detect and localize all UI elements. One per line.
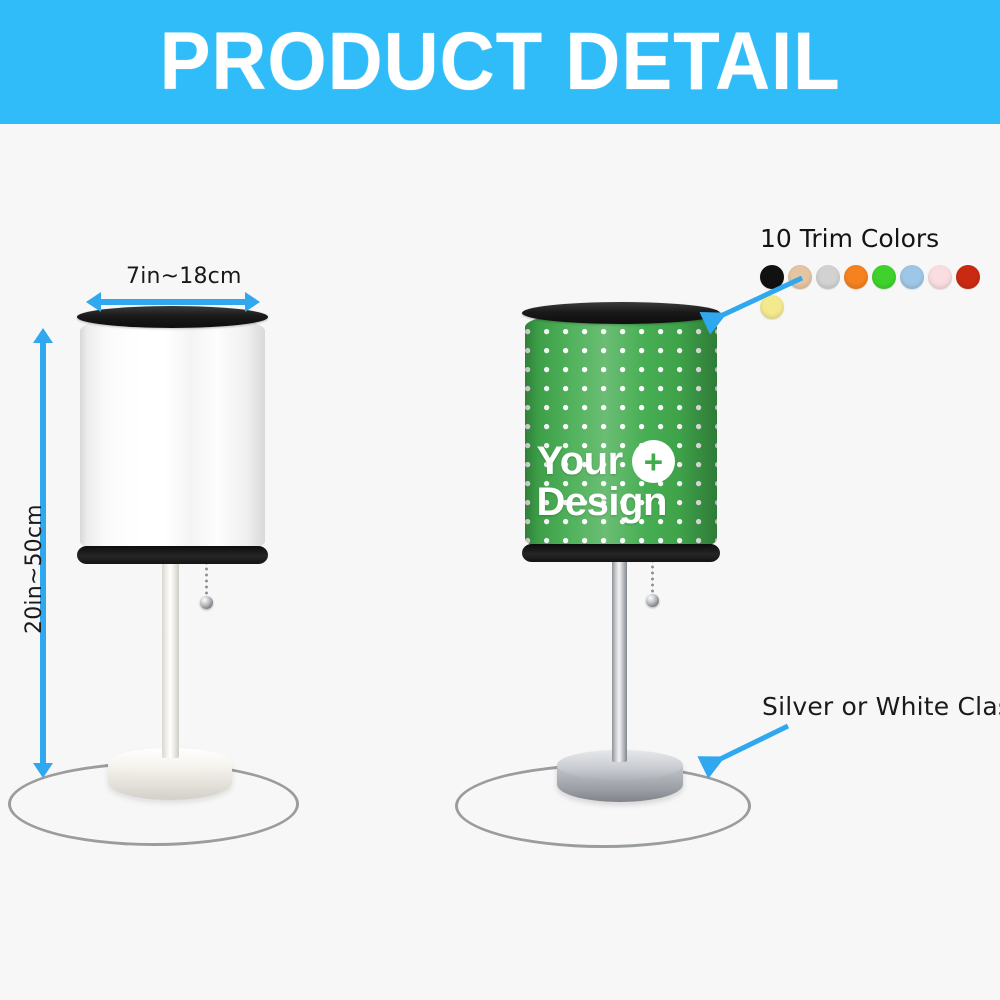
design-lamp-trim-top xyxy=(522,302,720,324)
white-lamp-pull-knob[interactable] xyxy=(200,596,213,609)
white-lamp-pole xyxy=(162,552,179,758)
design-lamp-pole xyxy=(612,550,627,762)
design-lamp-shade: Your + Design xyxy=(525,310,717,554)
trim-swatch-orange[interactable] xyxy=(844,265,868,289)
design-lamp-trim-bottom xyxy=(522,544,720,563)
shade-artwork: Your + Design xyxy=(537,440,706,522)
design-lamp-pull-knob[interactable] xyxy=(646,594,659,607)
width-dimension-arrow xyxy=(100,299,246,305)
trim-swatch-dark-red[interactable] xyxy=(956,265,980,289)
product-illustration-stage: Your + Design 7in~18cm 20in~50cm 10 Trim… xyxy=(0,124,1000,1000)
white-lamp-trim-top xyxy=(77,306,268,328)
trim-swatch-pink[interactable] xyxy=(928,265,952,289)
shade-artwork-line1: Your xyxy=(537,442,623,481)
trim-swatch-green[interactable] xyxy=(872,265,896,289)
white-lamp-shade xyxy=(80,314,265,556)
design-lamp-shade-surface: Your + Design xyxy=(525,310,717,554)
white-lamp-shade-surface xyxy=(80,314,265,556)
trim-colors-pointer-arrow xyxy=(694,276,814,336)
trim-swatch-light-gray[interactable] xyxy=(816,265,840,289)
base-finish-pointer-arrow xyxy=(690,722,800,782)
height-dimension-label: 20in~50cm xyxy=(22,504,47,634)
white-lamp xyxy=(0,124,330,844)
shade-artwork-line2: Design xyxy=(537,483,706,522)
plus-badge-icon: + xyxy=(632,440,675,483)
width-dimension-label: 7in~18cm xyxy=(126,264,242,289)
trim-swatch-light-blue[interactable] xyxy=(900,265,924,289)
base-finish-label: Silver or White Classy xyxy=(762,692,1000,721)
header-banner: PRODUCT DETAIL xyxy=(0,0,1000,124)
page-title: PRODUCT DETAIL xyxy=(160,21,841,103)
trim-colors-title: 10 Trim Colors xyxy=(760,224,1000,253)
shade-artwork-line1-row: Your + xyxy=(537,440,706,483)
white-lamp-trim-bottom xyxy=(77,546,268,564)
